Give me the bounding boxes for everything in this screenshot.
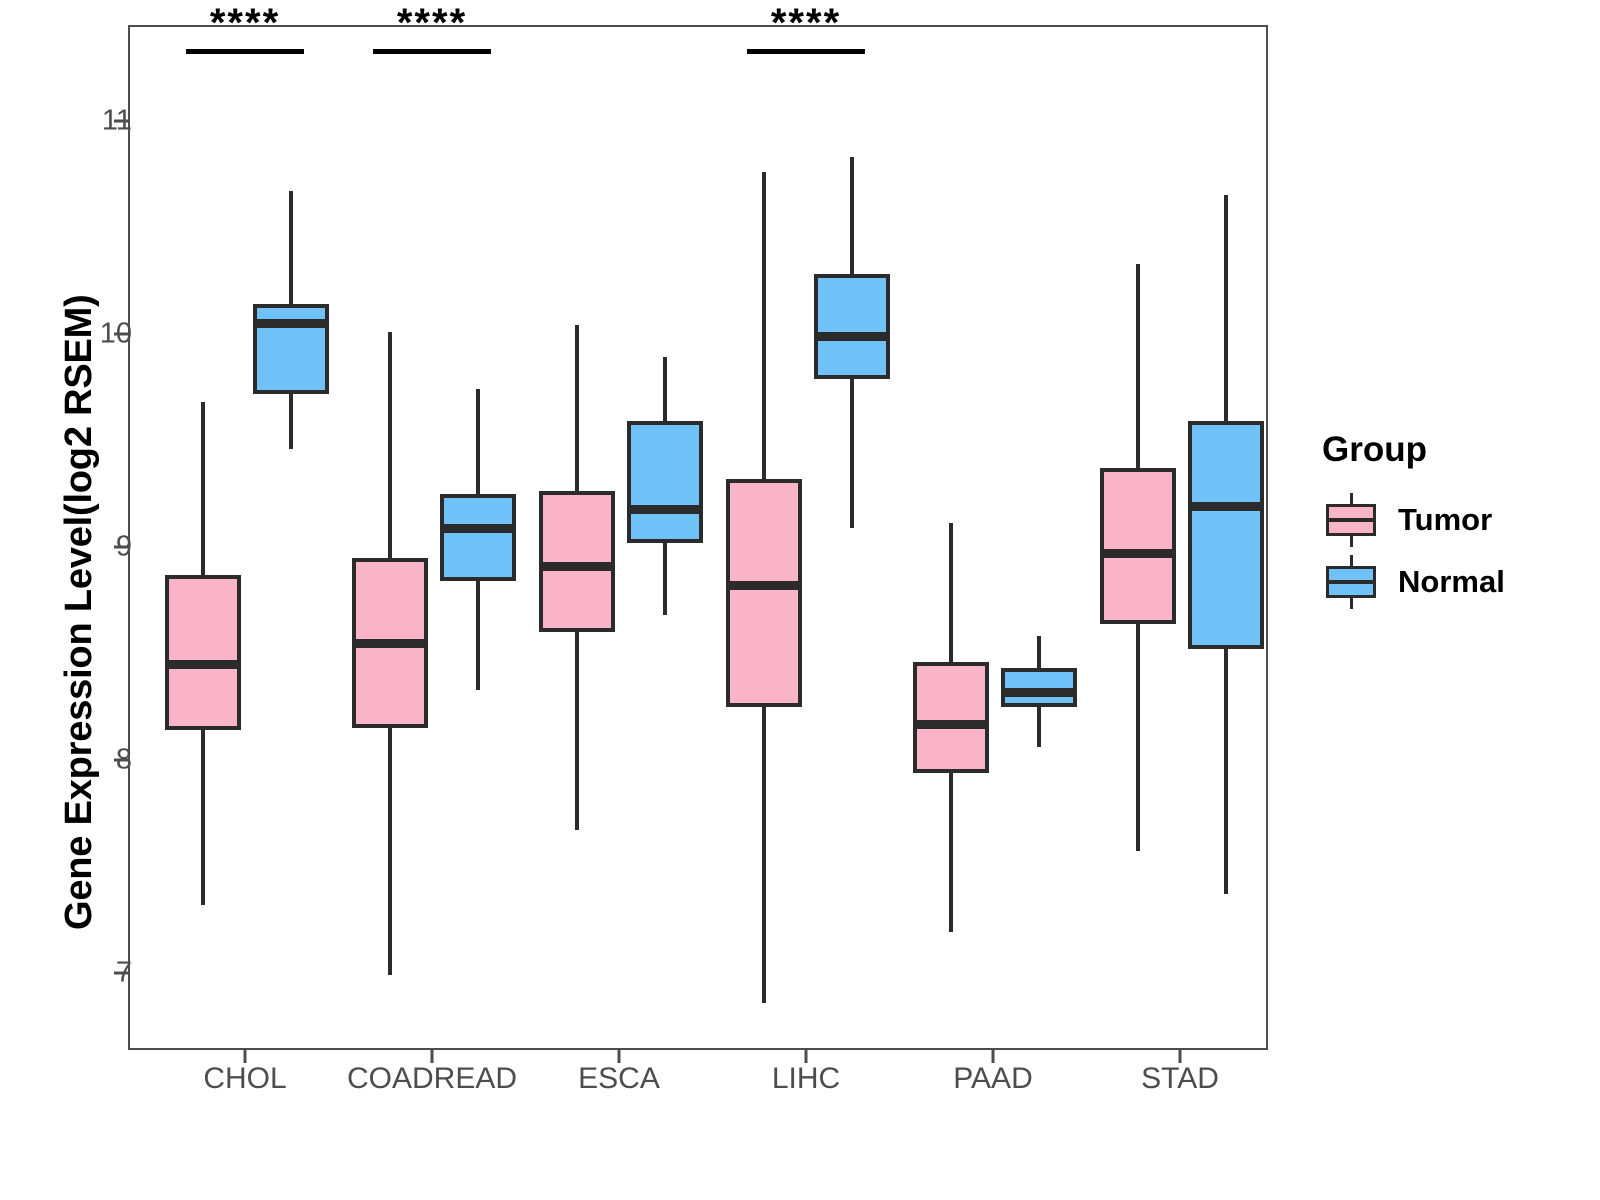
boxplot-median [1188,502,1264,511]
legend-title: Group [1322,432,1582,467]
legend-label: Tumor [1398,502,1492,538]
boxplot-median [913,720,989,729]
y-tick-mark [114,333,128,336]
legend-label: Normal [1398,564,1505,600]
boxplot-median [814,332,890,341]
y-tick-mark [114,759,128,762]
boxplot-box [440,494,516,581]
boxplot-box [913,662,989,773]
x-tick-label: ESCA [578,1062,660,1096]
significance-bracket [186,49,304,54]
chart-root: Gene Expression Level(log2 RSEM) 7891011… [0,0,1600,1200]
boxplot-median [1100,549,1176,558]
legend-item-tumor[interactable]: Tumor [1322,489,1582,551]
x-tick-label: COADREAD [347,1062,517,1096]
boxplot-box [814,274,890,378]
legend-item-normal[interactable]: Normal [1322,551,1582,613]
plot-area [130,27,1266,1048]
significance-bracket [373,49,491,54]
boxplot-box [165,575,241,730]
legend-key-icon [1322,489,1380,551]
boxplot-median [352,639,428,648]
x-tick-label: LIHC [772,1062,840,1096]
boxplot-median [1001,688,1077,697]
y-tick-mark [114,120,128,123]
plot-panel [128,25,1268,1050]
y-axis-title-text: Gene Expression Level(log2 RSEM) [58,294,101,930]
boxplot-median [253,319,329,328]
legend-items: TumorNormal [1322,489,1582,613]
significance-label: **** [771,1,841,46]
boxplot-box [1100,468,1176,623]
boxplot-box [1188,421,1264,649]
y-tick-mark [114,972,128,975]
x-tick-label: CHOL [203,1062,286,1096]
boxplot-median [726,581,802,590]
boxplot-median [627,505,703,514]
significance-label: **** [210,1,280,46]
boxplot-median [440,524,516,533]
significance-bracket [747,49,865,54]
x-tick-label: PAAD [953,1062,1032,1096]
legend-key-icon [1322,551,1380,613]
boxplot-box [253,304,329,393]
y-tick-mark [114,546,128,549]
x-tick-label: STAD [1141,1062,1219,1096]
y-axis-title: Gene Expression Level(log2 RSEM) [0,0,70,1200]
boxplot-box [726,479,802,707]
boxplot-median [539,562,615,571]
legend: Group TumorNormal [1322,432,1582,613]
boxplot-box [627,421,703,542]
boxplot-median [165,660,241,669]
significance-label: **** [397,1,467,46]
